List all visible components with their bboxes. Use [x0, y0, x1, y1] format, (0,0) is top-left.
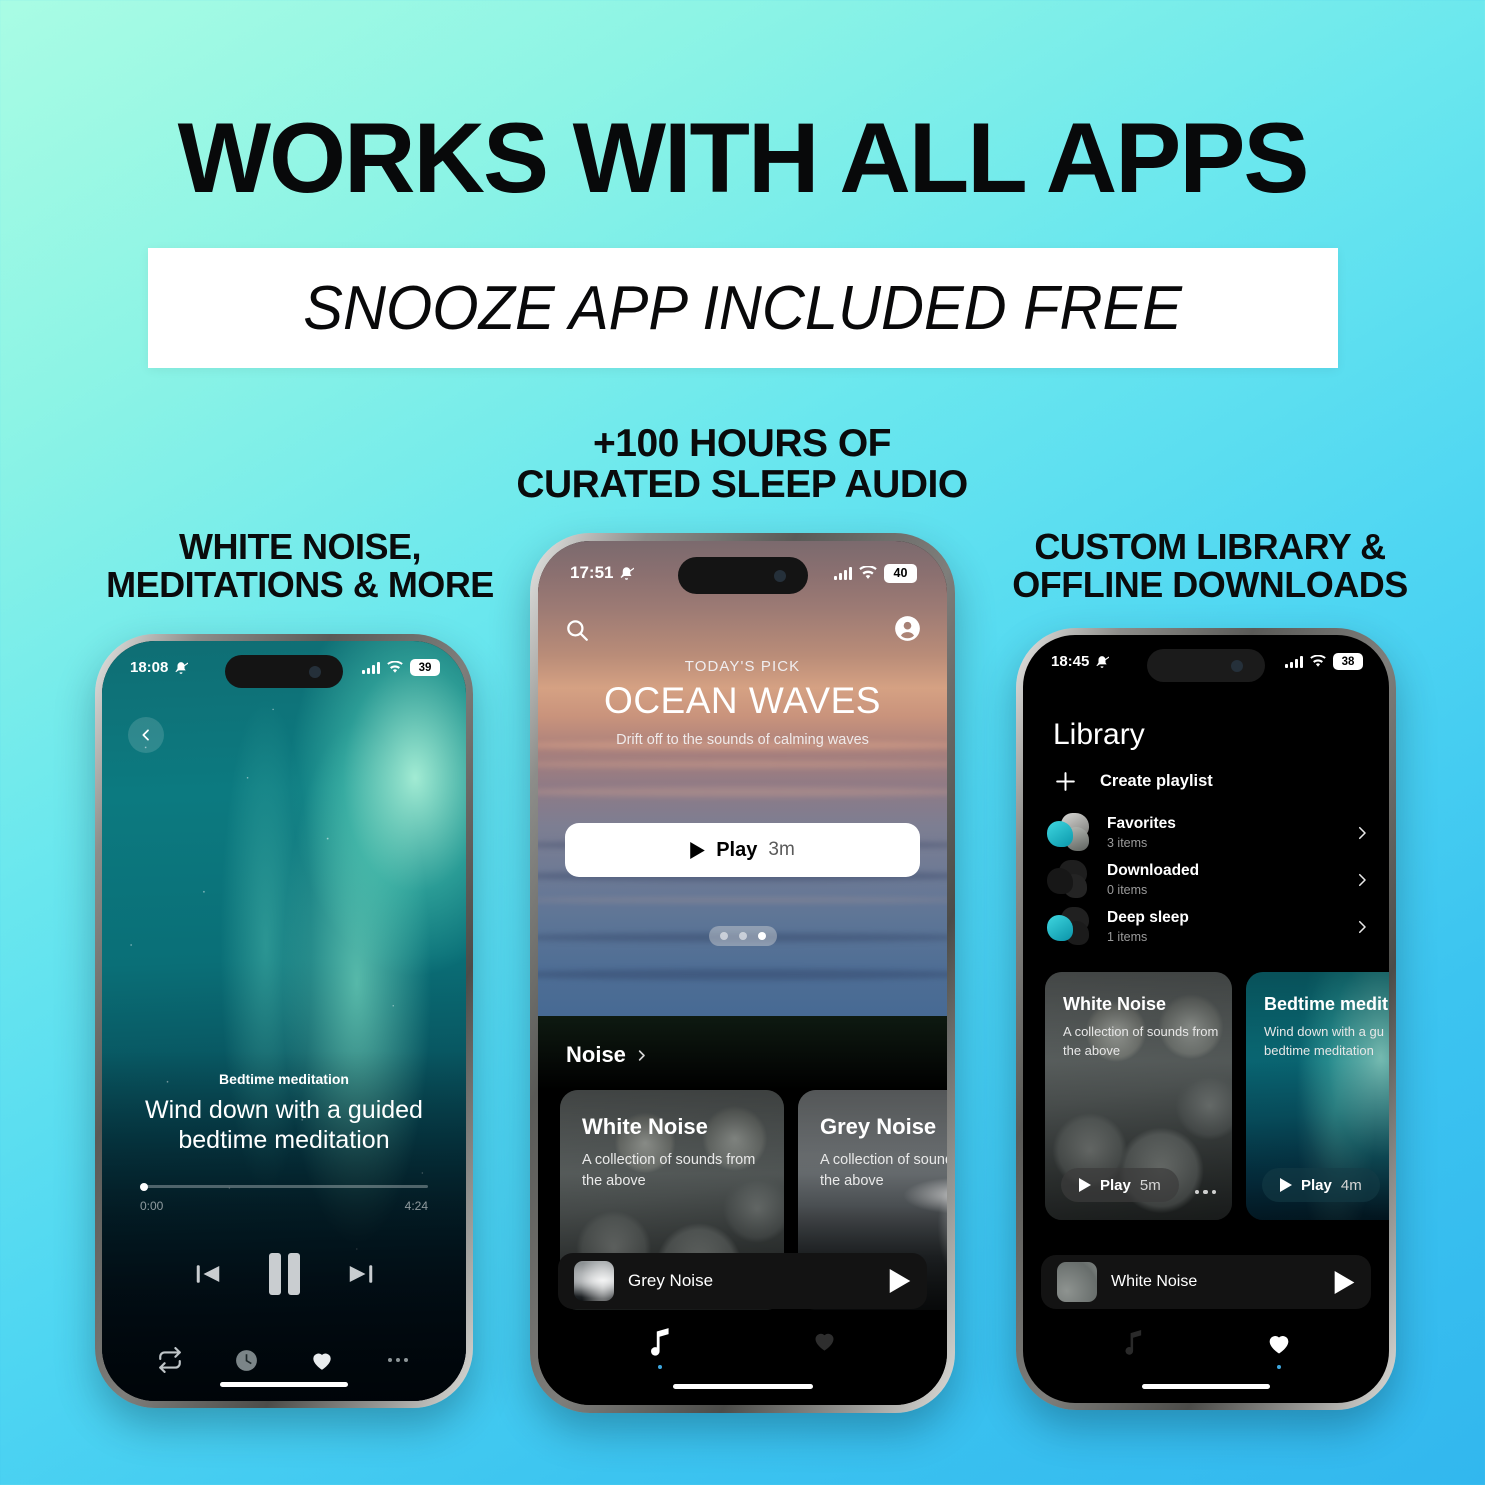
timer-icon[interactable]	[208, 1347, 284, 1373]
playlist-count: 3 items	[1107, 836, 1337, 850]
wifi-icon	[859, 566, 877, 580]
playlist-row-deep-sleep[interactable]: Deep sleep 1 items	[1047, 903, 1371, 950]
card-play-label: Play	[1100, 1177, 1131, 1194]
skip-forward-icon[interactable]	[346, 1259, 376, 1289]
bell-slash-icon	[174, 661, 188, 675]
tab-favorites[interactable]	[1206, 1329, 1351, 1369]
playlist-count: 1 items	[1107, 930, 1337, 944]
mini-player-thumb	[574, 1261, 614, 1301]
battery-level: 38	[1342, 656, 1355, 668]
card-description: Wind down with a gu bedtime meditation	[1264, 1023, 1389, 1060]
mini-player-title: Grey Noise	[628, 1271, 875, 1291]
playlist-name: Favorites	[1107, 815, 1337, 833]
create-playlist-label: Create playlist	[1100, 772, 1213, 791]
caption-center: +100 HOURS OF CURATED SLEEP AUDIO	[392, 424, 1092, 506]
back-button[interactable]	[128, 717, 164, 753]
playlist-artwork	[1047, 907, 1091, 947]
more-icon[interactable]	[360, 1347, 436, 1373]
wifi-icon	[1310, 655, 1326, 668]
card-play-button[interactable]: Play 5m	[1061, 1168, 1179, 1202]
page-title: Library	[1053, 718, 1145, 752]
carousel-indicator[interactable]	[709, 926, 777, 946]
repeat-icon[interactable]	[132, 1347, 208, 1373]
tab-active-dot	[1277, 1365, 1281, 1369]
play-label: Play	[716, 839, 757, 862]
playlist-row-downloaded[interactable]: Downloaded 0 items	[1047, 856, 1371, 903]
card-description: A collection of sounds from the above	[1063, 1023, 1220, 1060]
search-icon	[564, 617, 590, 643]
playlist-artwork	[1047, 813, 1091, 853]
tab-active-dot	[658, 1365, 662, 1369]
card-title: White Noise	[582, 1114, 768, 1140]
bell-slash-icon	[619, 566, 634, 581]
hero-play-button[interactable]: Play 3m	[565, 823, 920, 877]
more-icon[interactable]	[1195, 1190, 1217, 1195]
tab-music[interactable]	[578, 1327, 743, 1369]
chevron-right-icon[interactable]	[1353, 824, 1371, 842]
card-title: Bedtime medit	[1264, 994, 1389, 1015]
sub-headline-text: SNOOZE APP INCLUDED FREE	[304, 273, 1183, 344]
play-icon	[1079, 1178, 1091, 1192]
mini-player-title: White Noise	[1111, 1273, 1320, 1291]
status-time: 18:08	[130, 659, 168, 676]
playlist-artwork	[1047, 860, 1091, 900]
carousel-dot[interactable]	[720, 932, 728, 940]
mini-player[interactable]: White Noise	[1041, 1255, 1371, 1309]
status-bar: 18:45 38	[1023, 635, 1389, 670]
card-description: A collection of sounds from the above	[582, 1150, 768, 1191]
bell-slash-icon	[1095, 655, 1109, 669]
playlist-list: Favorites 3 items Downloaded 0 items	[1047, 809, 1371, 950]
account-button[interactable]	[894, 615, 921, 647]
card-title: White Noise	[1063, 994, 1220, 1015]
battery-indicator: 38	[1333, 653, 1363, 670]
tab-inactive-dot	[1132, 1364, 1136, 1368]
phone-center: 17:51 40	[530, 533, 955, 1413]
card-duration: 4m	[1341, 1177, 1362, 1194]
carousel-dot[interactable]	[739, 932, 747, 940]
chevron-left-icon	[138, 727, 154, 743]
tab-favorites[interactable]	[743, 1327, 908, 1369]
sub-headline-banner: SNOOZE APP INCLUDED FREE	[148, 248, 1338, 368]
cellular-icon	[834, 567, 852, 580]
pause-icon[interactable]	[269, 1253, 300, 1295]
library-card[interactable]: White Noise A collection of sounds from …	[1045, 972, 1232, 1220]
search-button[interactable]	[564, 617, 590, 648]
play-duration: 3m	[768, 839, 794, 861]
tab-inactive-dot	[823, 1362, 827, 1366]
card-title: Grey Noise	[820, 1114, 947, 1140]
cellular-icon	[362, 662, 380, 674]
phone-right-screen: 18:45 38 Library Create	[1023, 635, 1389, 1403]
total-time: 4:24	[405, 1199, 428, 1213]
wifi-icon	[387, 661, 403, 674]
create-playlist-button[interactable]: Create playlist	[1053, 769, 1213, 794]
hero-block: TODAY'S PICK OCEAN WAVES Drift off to th…	[538, 658, 947, 748]
card-play-button[interactable]: Play 4m	[1262, 1168, 1380, 1202]
home-indicator	[1142, 1384, 1270, 1389]
skip-back-icon[interactable]	[193, 1259, 223, 1289]
battery-indicator: 40	[884, 564, 917, 583]
status-time: 17:51	[570, 563, 613, 583]
caption-left: WHITE NOISE, MEDITATIONS & MORE	[40, 528, 560, 604]
card-description: A collection of sounds from the above	[820, 1150, 947, 1191]
status-bar: 18:08 39	[102, 641, 466, 676]
phone-left-screen: 18:08 39 Bedtime m	[102, 641, 466, 1401]
carousel-dot-active[interactable]	[758, 932, 766, 940]
library-card-list: White Noise A collection of sounds from …	[1045, 972, 1389, 1220]
playlist-name: Deep sleep	[1107, 909, 1337, 927]
play-icon[interactable]	[1334, 1271, 1355, 1294]
section-header-noise[interactable]: Noise	[566, 1042, 649, 1068]
hero-eyebrow: TODAY'S PICK	[538, 658, 947, 675]
battery-level: 40	[894, 566, 908, 580]
card-play-label: Play	[1301, 1177, 1332, 1194]
library-card[interactable]: Bedtime medit Wind down with a gu bedtim…	[1246, 972, 1389, 1220]
mini-player-thumb	[1057, 1262, 1097, 1302]
page-title: WORKS WITH ALL APPS	[0, 108, 1485, 207]
tab-bar	[1023, 1329, 1389, 1369]
play-icon	[1280, 1178, 1292, 1192]
now-playing-meta: Bedtime meditation Wind down with a guid…	[102, 1071, 466, 1155]
music-note-icon	[1122, 1329, 1145, 1356]
tab-bar	[538, 1327, 947, 1369]
status-time: 18:45	[1051, 653, 1089, 670]
status-bar: 17:51 40	[538, 541, 947, 583]
account-circle-icon	[894, 615, 921, 642]
playlist-count: 0 items	[1107, 883, 1337, 897]
track-category: Bedtime meditation	[102, 1071, 466, 1087]
chevron-right-icon[interactable]	[1353, 918, 1371, 936]
progress-slider[interactable]	[140, 1185, 428, 1188]
chevron-right-icon[interactable]	[1353, 871, 1371, 889]
caption-right: CUSTOM LIBRARY & OFFLINE DOWNLOADS	[930, 528, 1485, 604]
mini-player[interactable]: Grey Noise	[558, 1253, 927, 1309]
play-icon	[690, 842, 705, 859]
cellular-icon	[1285, 656, 1303, 668]
battery-level: 39	[419, 662, 432, 674]
progress-section[interactable]: 0:00 4:24	[140, 1185, 428, 1213]
playlist-row-favorites[interactable]: Favorites 3 items	[1047, 809, 1371, 856]
player-actions	[102, 1347, 466, 1373]
battery-indicator: 39	[410, 659, 440, 676]
card-duration: 5m	[1140, 1177, 1161, 1194]
hero-subtitle: Drift off to the sounds of calming waves	[538, 732, 947, 748]
playlist-name: Downloaded	[1107, 862, 1337, 880]
section-title: Noise	[566, 1042, 626, 1068]
heart-icon[interactable]	[284, 1347, 360, 1373]
chevron-right-icon	[634, 1048, 649, 1063]
plus-icon	[1053, 769, 1078, 794]
home-indicator	[220, 1382, 348, 1387]
elapsed-time: 0:00	[140, 1199, 163, 1213]
tab-music[interactable]	[1061, 1329, 1206, 1369]
phone-left: 18:08 39 Bedtime m	[95, 634, 473, 1408]
playback-controls	[102, 1253, 466, 1295]
content-body: Noise White Noise A collection of sounds…	[538, 1016, 947, 1405]
hero-title: OCEAN WAVES	[538, 680, 947, 722]
track-title: Wind down with a guided bedtime meditati…	[102, 1096, 466, 1155]
phone-right: 18:45 38 Library Create	[1016, 628, 1396, 1410]
progress-knob[interactable]	[140, 1183, 148, 1191]
phone-center-screen: 17:51 40	[538, 541, 947, 1405]
heart-icon	[1265, 1329, 1293, 1357]
heart-icon	[811, 1327, 838, 1354]
play-icon[interactable]	[889, 1269, 911, 1293]
music-note-icon	[647, 1327, 673, 1357]
home-indicator	[673, 1384, 813, 1389]
